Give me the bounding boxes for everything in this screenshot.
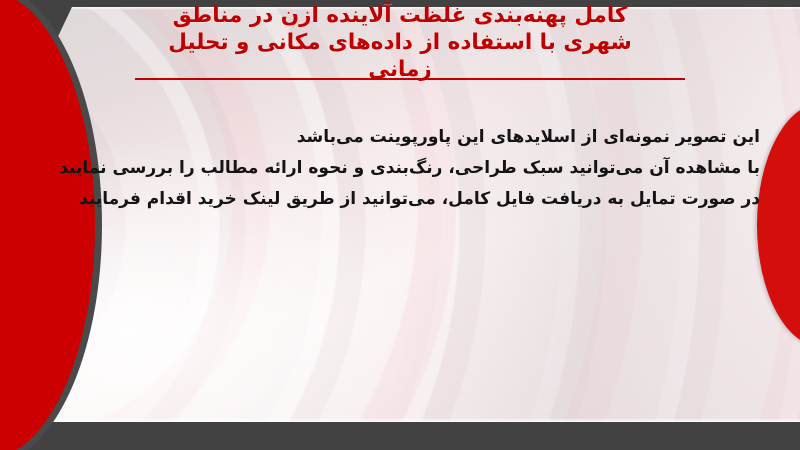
body-line-3: در صورت تمایل به دریافت فایل کامل، می‌تو… <box>60 184 760 215</box>
title-line-2: شهری با استفاده از داده‌های مکانی و تحلی… <box>0 29 800 56</box>
presentation-slide: کامل پهنه‌بندی غلظت آلاینده ازن در مناطق… <box>0 0 800 450</box>
title-line-1: کامل پهنه‌بندی غلظت آلاینده ازن در مناطق <box>0 2 800 29</box>
title-underline-rule <box>135 78 685 80</box>
body-line-2: با مشاهده آن می‌توانید سبک طراحی، رنگ‌بن… <box>60 153 760 184</box>
panel-bottom-highlight <box>0 418 800 422</box>
body-line-1: این تصویر نمونه‌ای از اسلایدهای این پاور… <box>60 122 760 153</box>
slide-body-text: این تصویر نمونه‌ای از اسلایدهای این پاور… <box>60 122 760 215</box>
slide-title: کامل پهنه‌بندی غلظت آلاینده ازن در مناطق… <box>0 2 800 83</box>
